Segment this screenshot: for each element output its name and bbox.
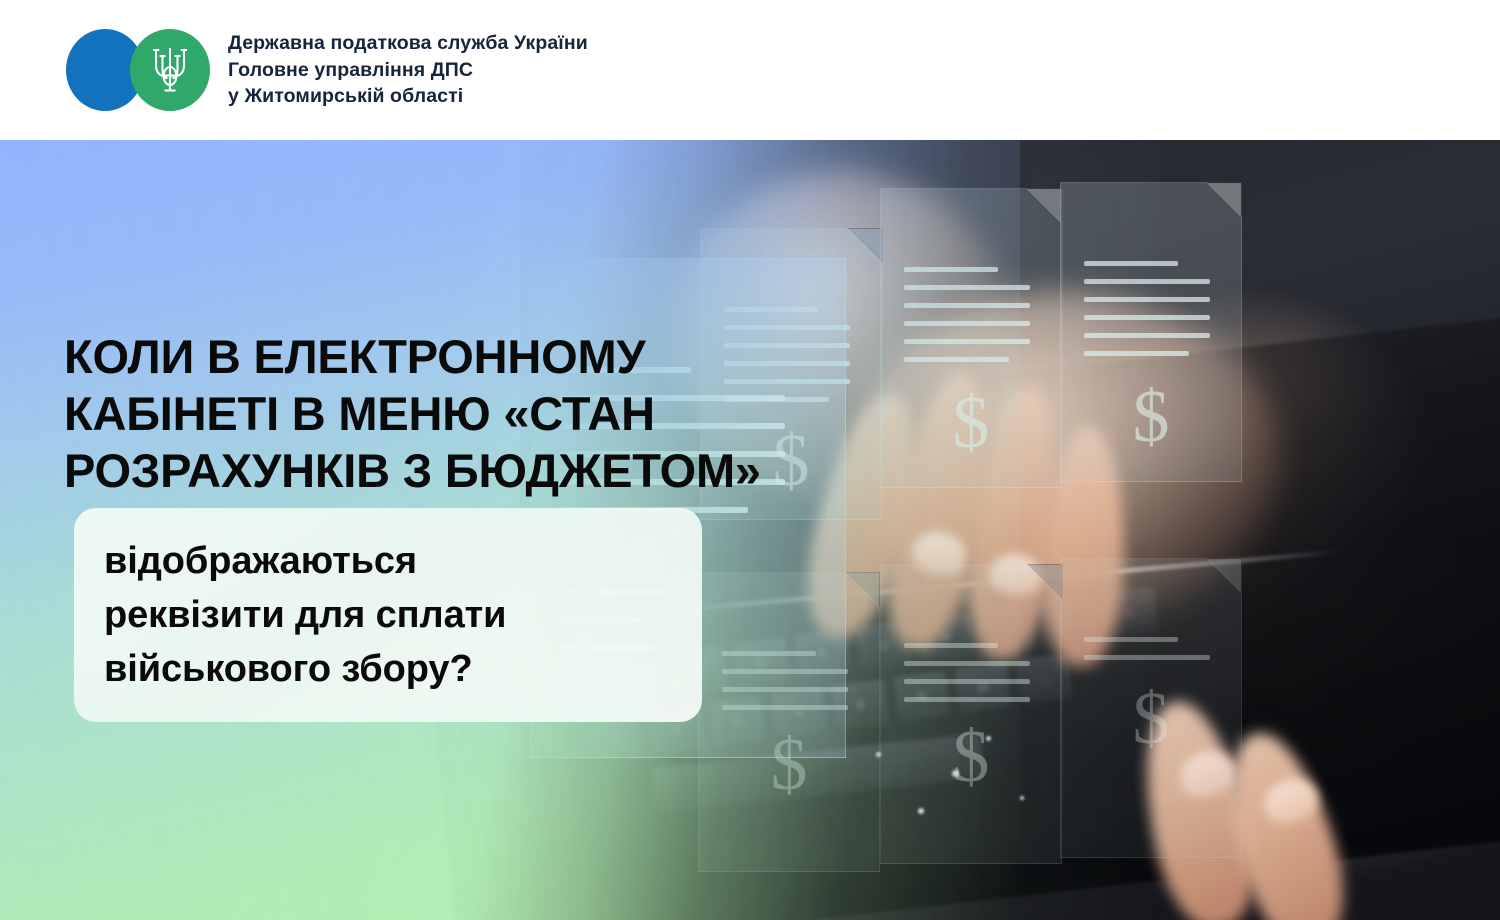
dps-logo[interactable] [66,29,206,111]
banner-headline: КОЛИ В ЕЛЕКТРОННОМУ КАБІНЕТІ В МЕНЮ «СТА… [64,328,924,499]
banner-page: Державна податкова служба України Головн… [0,0,1500,920]
question-callout-box: відображаються реквізити для сплати війс… [74,508,702,722]
question-line-2: реквізити для сплати [104,588,506,642]
ukrainian-trident-icon [150,43,190,97]
org-title-line-3: у Житомирській області [228,83,588,110]
org-title-line-2: Головне управління ДПС [228,57,588,84]
question-line-1: відображаються [104,534,506,588]
question-text: відображаються реквізити для сплати війс… [74,534,506,696]
question-line-3: військового збору? [104,642,506,696]
site-header: Державна податкова служба України Головн… [0,0,1500,140]
banner-content: КОЛИ В ЕЛЕКТРОННОМУ КАБІНЕТІ В МЕНЮ «СТА… [0,140,1020,920]
org-name-block: Державна податкова служба України Головн… [228,30,588,111]
org-title-line-1: Державна податкова служба України [228,30,588,57]
hero-banner: A S D F G H J K L Z X C V B N M , [0,140,1500,920]
headline-line-2: КАБІНЕТІ В МЕНЮ «СТАН [64,385,924,442]
headline-line-3: РОЗРАХУНКІВ З БЮДЖЕТОМ» [64,442,924,499]
headline-line-1: КОЛИ В ЕЛЕКТРОННОМУ [64,328,924,385]
